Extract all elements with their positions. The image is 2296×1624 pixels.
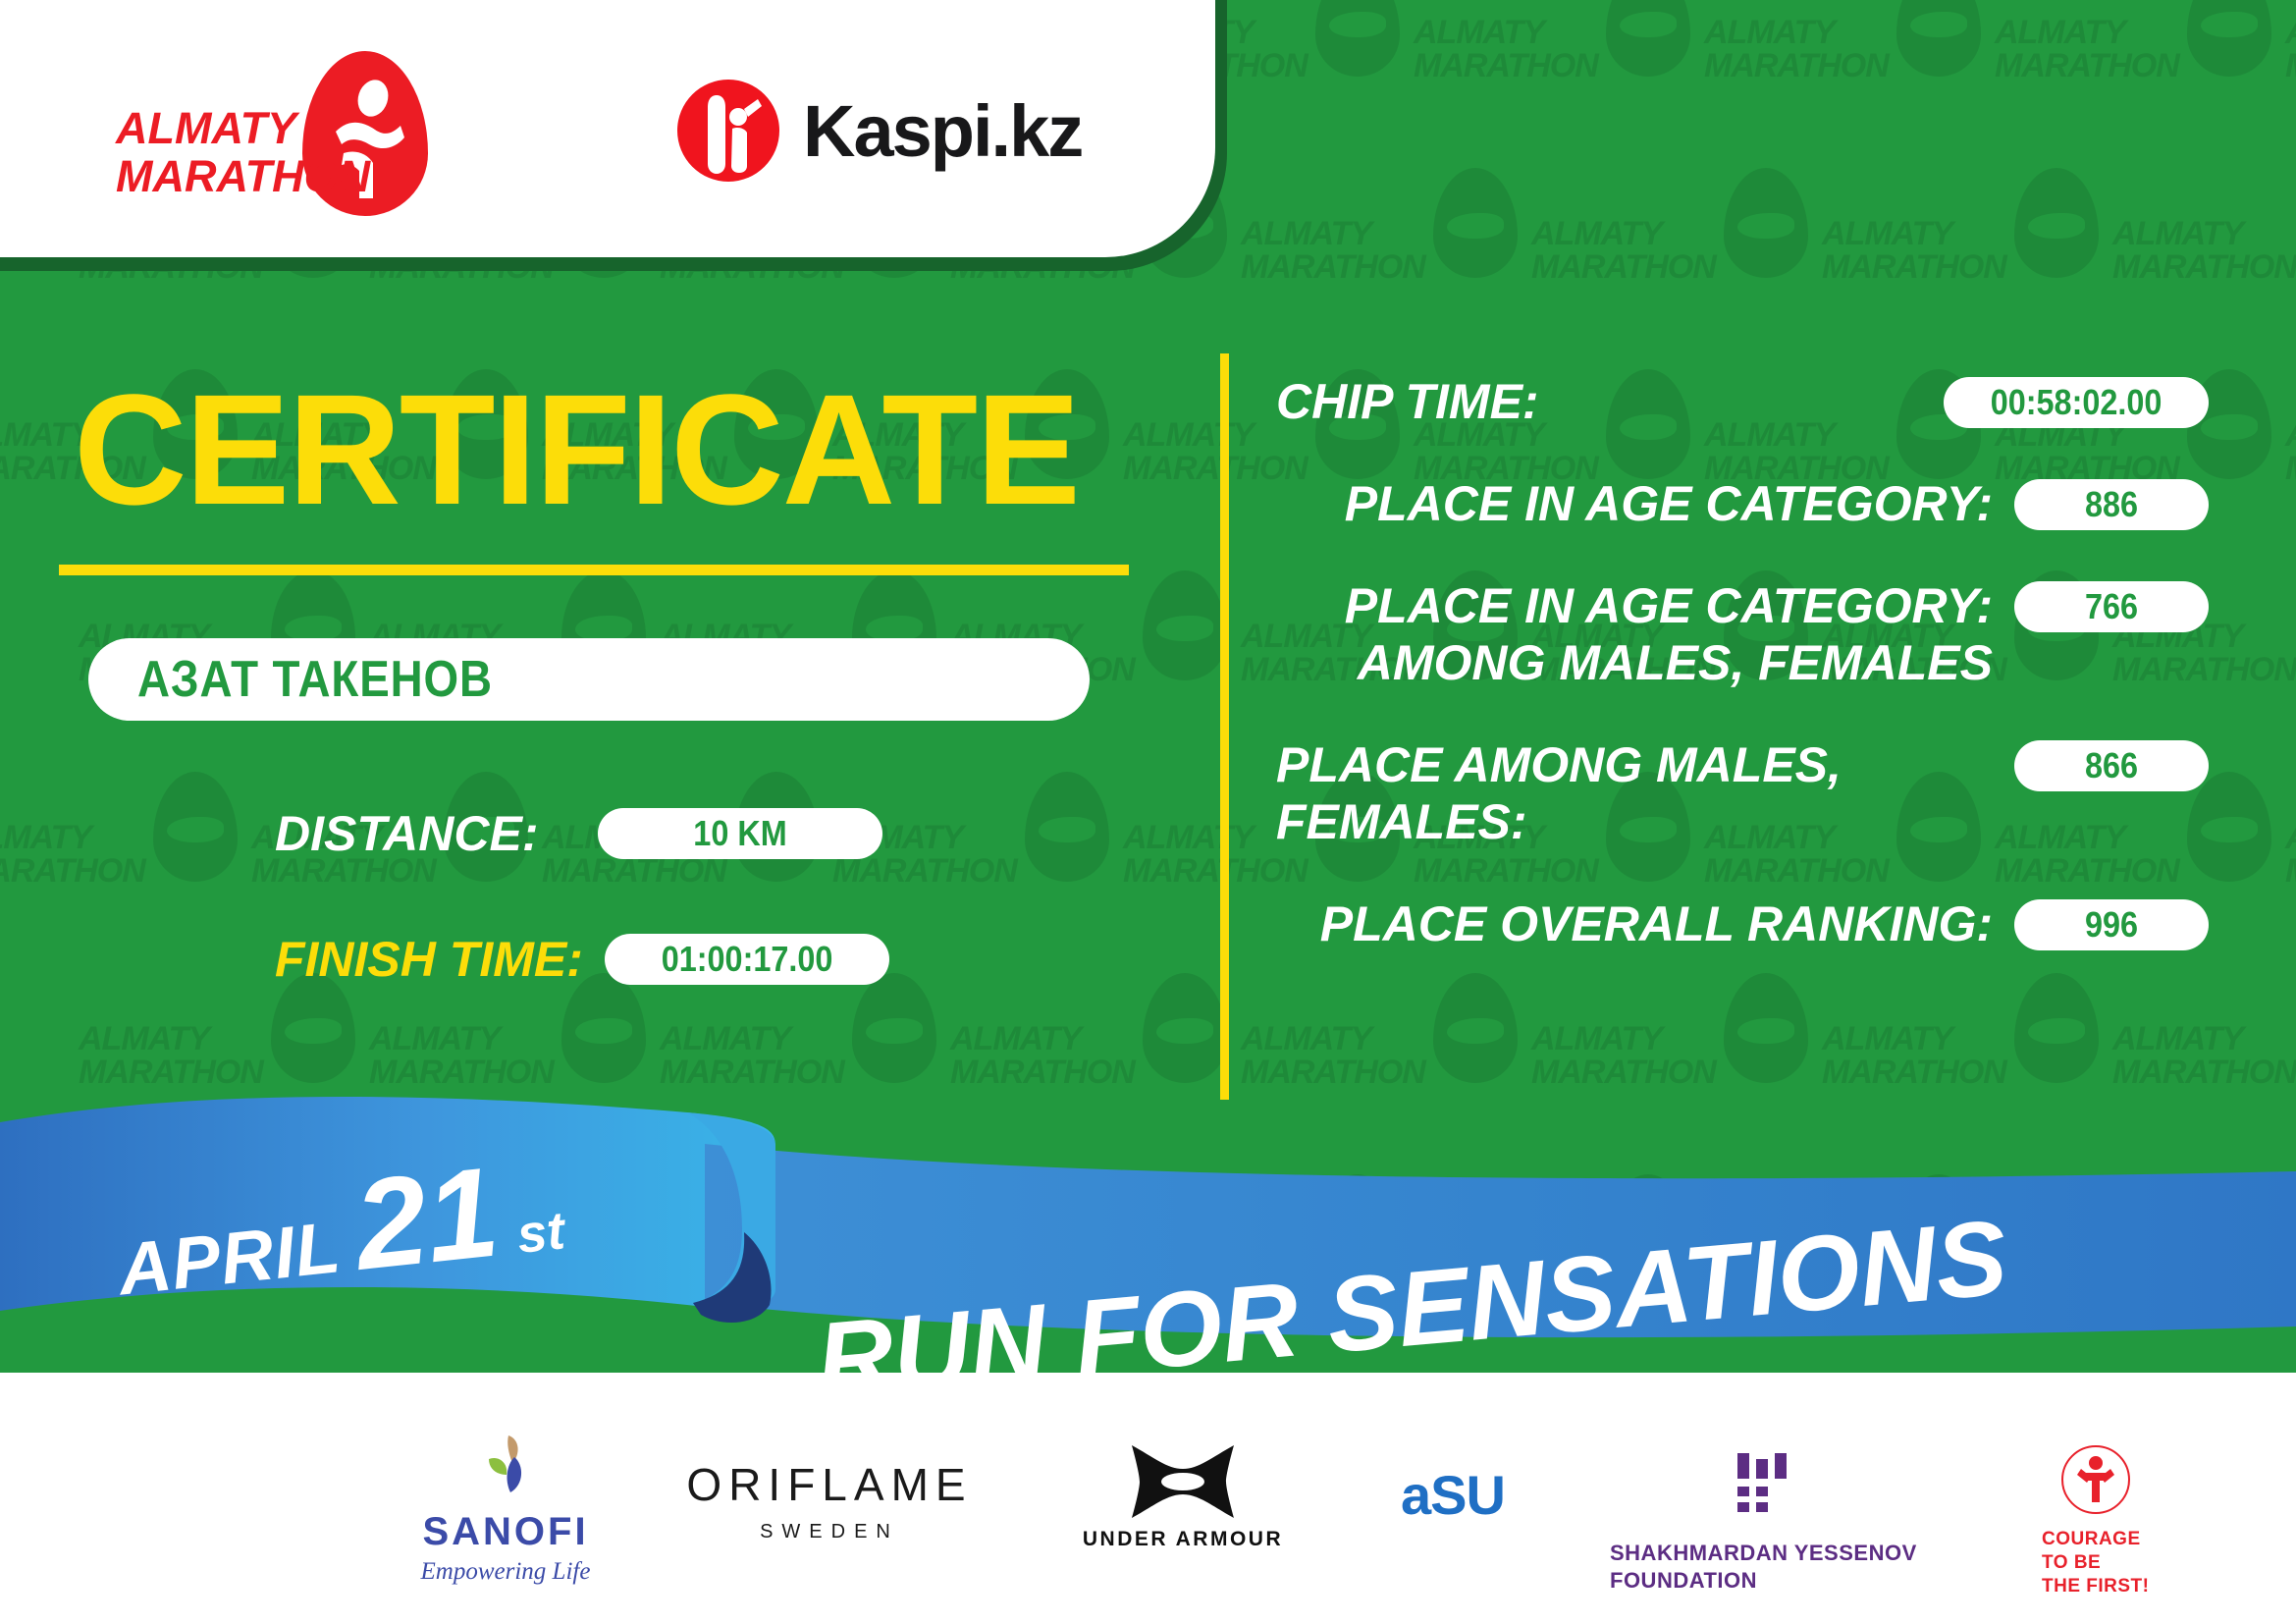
yessenov-line-1: SHAKHMARDAN YESSENOV <box>1610 1540 1917 1567</box>
event-ribbon: APRIL 21 st RUN FOR SENSATIONS <box>0 1095 2296 1409</box>
watermark-tile: ALMATYMARATHON <box>1995 0 2279 157</box>
watermark-tile: ALMATYMARATHON <box>2112 162 2296 358</box>
stat-value: 886 <box>2085 484 2138 525</box>
courage-line-1: COURAGE <box>2042 1528 2150 1551</box>
sponsor-logo-sanofi: SANOFI Empowering Life <box>393 1434 618 1586</box>
distance-row: DISTANCE: 10 KM <box>275 805 882 862</box>
header-panel-shadow: ALMATY MARATHON Kaspi.kz <box>0 0 1227 271</box>
watermark-drop-icon <box>1315 0 1400 77</box>
watermark-line-2: MARATHON <box>1995 47 2179 85</box>
under-armour-icon <box>1124 1443 1242 1520</box>
watermark-tile: ALMATYMARATHON <box>1822 162 2107 358</box>
distance-value: 10 KM <box>693 813 786 854</box>
courage-wordmark: COURAGE TO BE THE FIRST! <box>2042 1528 2150 1598</box>
watermark-tile: ALMATYMARATHON <box>0 766 245 962</box>
stat-row-place-among-males-females: PLACE AMONG MALES, FEMALES: 866 <box>1276 736 2209 850</box>
stat-value: 766 <box>2085 586 2138 627</box>
kaspi-people-icon <box>677 80 779 182</box>
watermark-line-2: MARATHON <box>1531 1054 1716 1092</box>
watermark-drop-icon <box>561 973 646 1083</box>
watermark-tile: ALMATYMARATHON <box>2285 766 2296 962</box>
watermark-drop-icon <box>1143 570 1227 680</box>
watermark-drop-icon <box>2014 168 2099 278</box>
stat-label-group: PLACE AMONG MALES, FEMALES: <box>1276 736 1993 850</box>
stat-label: PLACE OVERALL RANKING: <box>1276 895 1993 952</box>
yessenov-line-2: FOUNDATION <box>1610 1567 1917 1595</box>
sponsor-logo-under-armour: UNDER ARMOUR <box>1070 1443 1296 1551</box>
title-underline <box>59 565 1129 575</box>
kaspi-figures-icon <box>677 80 779 182</box>
watermark-line-2: MARATHON <box>2112 1054 2296 1092</box>
stat-label-line-1: PLACE AMONG MALES, <box>1276 736 1993 793</box>
stat-row-place-overall-ranking: PLACE OVERALL RANKING: 996 <box>1276 895 2209 952</box>
watermark-drop-icon <box>2187 0 2271 77</box>
stat-value-pill: 996 <box>2014 899 2209 950</box>
oriflame-sub: SWEDEN <box>760 1521 899 1543</box>
watermark-drop-icon <box>1025 772 1109 882</box>
watermark-line-2: MARATHON <box>1822 1054 2006 1092</box>
courage-figure-icon <box>2059 1443 2132 1516</box>
almaty-marathon-wordmark: ALMATY MARATHON <box>116 104 370 200</box>
stat-label-line-1: PLACE IN AGE CATEGORY: <box>1276 577 1993 634</box>
watermark-line-2: MARATHON <box>2112 248 2296 287</box>
kaspi-wordmark: Kaspi.kz <box>803 89 1082 173</box>
watermark-drop-icon <box>1606 0 1690 77</box>
courage-line-2: TO BE <box>2042 1551 2150 1575</box>
watermark-drop-icon <box>1724 168 1808 278</box>
logo-line-marathon: MARATHON <box>116 152 370 200</box>
sponsor-logo-yessenov-foundation: SHAKHMARDAN YESSENOV FOUNDATION <box>1610 1453 1917 1595</box>
sponsor-logo-oriflame: ORIFLAME SWEDEN <box>687 1458 972 1543</box>
watermark-line-2: MARATHON <box>1414 47 1598 85</box>
watermark-drop-icon <box>1143 973 1227 1083</box>
watermark-line-2: MARATHON <box>79 1054 263 1092</box>
event-day: 21 <box>350 1157 503 1279</box>
yessenov-bars-icon <box>1735 1453 1790 1518</box>
watermark-line-2: MARATHON <box>1822 248 2006 287</box>
stat-value-pill: 886 <box>2014 479 2209 530</box>
stat-value-pill: 866 <box>2014 740 2209 791</box>
stat-value-pill: 766 <box>2014 581 2209 632</box>
stat-row-place-age-category-among: PLACE IN AGE CATEGORY: AMONG MALES, FEMA… <box>1276 577 2209 691</box>
sponsor-logo-asu: aSU <box>1364 1463 1541 1527</box>
courage-line-3: THE FIRST! <box>2042 1575 2150 1598</box>
stat-value-pill: 00:58:02.00 <box>1944 377 2209 428</box>
watermark-line-2: MARATHON <box>0 852 145 891</box>
stat-label: PLACE IN AGE CATEGORY: <box>1276 475 1993 532</box>
page-title: CERTIFICATE <box>74 376 1079 523</box>
stat-label-line-2: FEMALES: <box>1276 793 1993 850</box>
stat-label: CHIP TIME: <box>1276 373 1922 430</box>
certificate-page: ALMATYMARATHONALMATYMARATHONALMATYMARATH… <box>0 0 2296 1624</box>
watermark-drop-icon <box>153 772 238 882</box>
distance-value-pill: 10 KM <box>598 808 882 859</box>
column-divider <box>1220 353 1229 1100</box>
yessenov-wordmark: SHAKHMARDAN YESSENOV FOUNDATION <box>1610 1540 1917 1595</box>
watermark-tile: ALMATYMARATHON <box>1241 162 1525 358</box>
athlete-name-field: АЗАТ ТАКЕНОВ <box>88 638 1090 721</box>
finish-time-value-pill: 01:00:17.00 <box>605 934 889 985</box>
watermark-line-2: MARATHON <box>2285 450 2296 488</box>
under-armour-wordmark: UNDER ARMOUR <box>1083 1528 1283 1551</box>
event-day-suffix: st <box>514 1200 567 1266</box>
stat-value: 996 <box>2085 904 2138 946</box>
sanofi-tagline: Empowering Life <box>421 1558 591 1586</box>
watermark-line-2: MARATHON <box>2285 852 2296 891</box>
kaspi-logo: Kaspi.kz <box>677 77 1082 185</box>
almaty-marathon-logo: ALMATY MARATHON <box>116 61 450 198</box>
watermark-line-2: MARATHON <box>369 1054 554 1092</box>
athlete-name-value: АЗАТ ТАКЕНОВ <box>137 650 493 709</box>
watermark-drop-icon <box>1896 0 1981 77</box>
header-panel: ALMATY MARATHON Kaspi.kz <box>0 0 1215 257</box>
asu-wordmark: aSU <box>1401 1463 1505 1527</box>
distance-label: DISTANCE: <box>275 805 539 862</box>
sanofi-mark-icon <box>469 1434 542 1506</box>
stat-row-chip-time: CHIP TIME: 00:58:02.00 <box>1276 373 2209 430</box>
finish-time-value: 01:00:17.00 <box>662 939 833 980</box>
watermark-line-2: MARATHON <box>2285 47 2296 85</box>
watermark-tile: ALMATYMARATHON <box>1704 0 1989 157</box>
watermark-tile: ALMATYMARATHON <box>1414 0 1698 157</box>
sanofi-wordmark: SANOFI <box>422 1510 588 1554</box>
watermark-drop-icon <box>852 973 936 1083</box>
watermark-tile: ALMATYMARATHON <box>2285 0 2296 157</box>
watermark-drop-icon <box>1433 168 1518 278</box>
stat-label-line-2: AMONG MALES, FEMALES <box>1276 634 1993 691</box>
watermark-tile: ALMATYMARATHON <box>2285 363 2296 560</box>
finish-time-label: FINISH TIME: <box>275 931 583 988</box>
watermark-line-2: MARATHON <box>950 1054 1135 1092</box>
stat-label-group: PLACE IN AGE CATEGORY: AMONG MALES, FEMA… <box>1276 577 1993 691</box>
watermark-line-2: MARATHON <box>1241 248 1425 287</box>
results-stats-list: CHIP TIME: 00:58:02.00 PLACE IN AGE CATE… <box>1276 373 2209 998</box>
watermark-line-2: MARATHON <box>1241 1054 1425 1092</box>
logo-line-almaty: ALMATY <box>116 104 370 152</box>
stat-row-place-age-category: PLACE IN AGE CATEGORY: 886 <box>1276 475 2209 532</box>
watermark-drop-icon <box>271 973 355 1083</box>
watermark-line-2: MARATHON <box>1704 47 1889 85</box>
stat-value: 866 <box>2085 745 2138 786</box>
sponsor-logo-courage-to-be-the-first: COURAGE TO BE THE FIRST! <box>2042 1443 2150 1598</box>
watermark-tile: ALMATYMARATHON <box>1531 162 1816 358</box>
watermark-line-2: MARATHON <box>660 1054 844 1092</box>
watermark-line-2: MARATHON <box>1531 248 1716 287</box>
finish-time-row: FINISH TIME: 01:00:17.00 <box>275 931 889 988</box>
oriflame-wordmark: ORIFLAME <box>686 1458 972 1511</box>
stat-value: 00:58:02.00 <box>1991 382 2163 423</box>
